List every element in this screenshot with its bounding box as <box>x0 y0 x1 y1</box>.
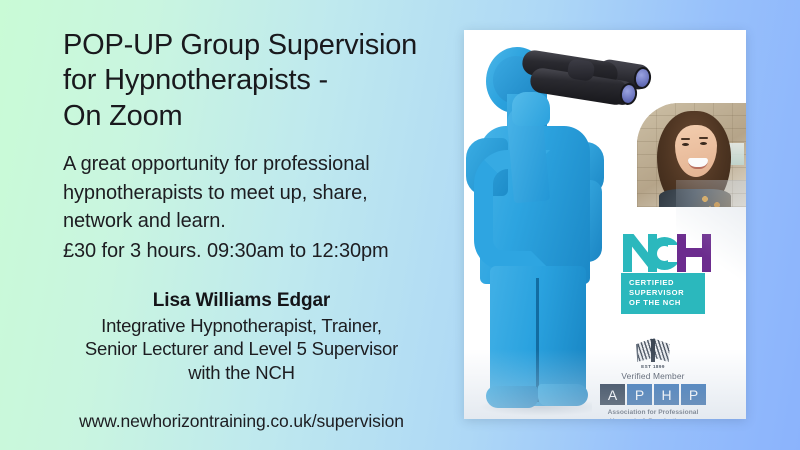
presenter-name: Lisa Williams Edgar <box>63 290 420 312</box>
figure-leg-split <box>536 278 539 402</box>
aphp-established-year: EST 1899 <box>592 364 714 369</box>
price-and-time-text: £30 for 3 hours. 09:30am to 12:30pm <box>63 237 442 265</box>
nch-banner: CERTIFIED SUPERVISOR OF THE NCH <box>621 273 705 314</box>
aphp-fan-stem <box>651 339 655 362</box>
nch-banner-line-3: OF THE NCH <box>629 298 698 308</box>
nch-letter-h-icon <box>677 234 711 272</box>
photo-right-eyebrow <box>699 137 708 139</box>
aphp-letter-a: A <box>600 384 625 405</box>
nch-logo: CERTIFIED SUPERVISOR OF THE NCH <box>621 234 721 302</box>
aphp-letter-h: H <box>654 384 679 405</box>
nch-banner-line-1: CERTIFIED <box>629 278 698 288</box>
text-column: POP-UP Group Supervision for Hypnotherap… <box>0 0 462 450</box>
nch-letters <box>621 234 721 272</box>
page-title: POP-UP Group Supervision for Hypnotherap… <box>63 28 442 134</box>
binoculars-icon <box>516 54 656 110</box>
presenter-role: Integrative Hypnotherapist, Trainer, Sen… <box>63 314 420 385</box>
aphp-verified-member-label: Verified Member <box>592 371 714 381</box>
photo-left-eye <box>682 143 689 146</box>
aphp-fan-emblem-icon <box>636 338 670 364</box>
nch-banner-line-2: SUPERVISOR <box>629 288 698 298</box>
aphp-tagline: Association for Professional Hypnosis & … <box>592 408 714 419</box>
figure-right-foot <box>538 384 588 406</box>
promo-image-card: CERTIFIED SUPERVISOR OF THE NCH EST 1899… <box>464 30 746 419</box>
presenter-block: Lisa Williams Edgar Integrative Hypnothe… <box>63 290 442 385</box>
aphp-logo: EST 1899 Verified Member A P H P Associa… <box>592 335 714 415</box>
presenter-photo <box>637 103 746 207</box>
photo-left-eyebrow <box>681 138 690 140</box>
figure-left-foot <box>486 386 538 408</box>
aphp-letter-p1: P <box>627 384 652 405</box>
description-text: A great opportunity for professional hyp… <box>63 150 442 235</box>
website-url[interactable]: www.newhorizontraining.co.uk/supervision <box>63 411 442 432</box>
aphp-letter-boxes: A P H P <box>592 384 714 405</box>
photo-right-eye <box>700 142 707 145</box>
aphp-letter-p2: P <box>681 384 706 405</box>
photo-floral-pattern <box>699 193 727 207</box>
